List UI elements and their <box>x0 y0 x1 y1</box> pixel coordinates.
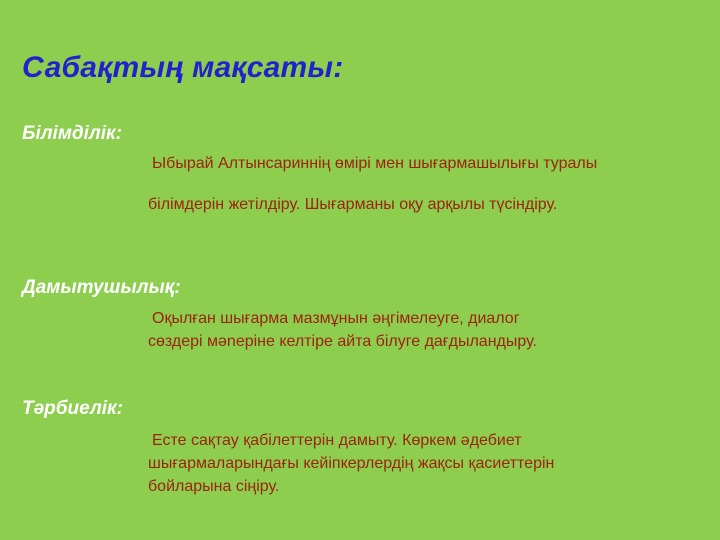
page-title: Сабақтың мақсаты: <box>22 51 343 86</box>
section-body-bilimdilik: Ыбырай Алтынсариннің өмірі мен шығармашы… <box>148 156 597 214</box>
slide-canvas: Сабақтың мақсаты: Білімділік: Ыбырай Алт… <box>0 0 720 540</box>
body-line: Оқылған шығарма мазмұнын әңгімелеуге, ди… <box>148 311 537 328</box>
body-line: бойларына сіңіру. <box>148 479 554 496</box>
body-line: білімдерін жетілдіру. Шығарманы оқу арқы… <box>148 197 597 214</box>
body-line: Ыбырай Алтынсариннің өмірі мен шығармашы… <box>148 156 597 173</box>
section-heading-bilimdilik: Білімділік: <box>22 124 122 145</box>
section-damytushylyq: Дамытушылық: Оқылған шығарма мазмұнын әң… <box>0 278 720 368</box>
section-body-tarbielik: Есте сақтау қабілеттерін дамыту. Көркем … <box>148 433 554 495</box>
body-line: сөздері мәneріне келтіре айта білуге дағ… <box>148 334 537 351</box>
section-heading-tarbielik: Тәрбиелік: <box>22 399 123 420</box>
section-tarbielik: Тәрбиелік: Есте сақтау қабілеттерін дамы… <box>0 399 720 519</box>
section-body-damytushylyq: Оқылған шығарма мазмұнын әңгімелеуге, ди… <box>148 311 537 351</box>
body-line: Есте сақтау қабілеттерін дамыту. Көркем … <box>148 433 554 450</box>
section-bilimdilik: Білімділік: Ыбырай Алтынсариннің өмірі м… <box>0 124 720 234</box>
section-heading-damytushylyq: Дамытушылық: <box>22 278 181 299</box>
body-line: шығармаларындағы кейіпкерлердің жақсы қа… <box>148 456 554 473</box>
